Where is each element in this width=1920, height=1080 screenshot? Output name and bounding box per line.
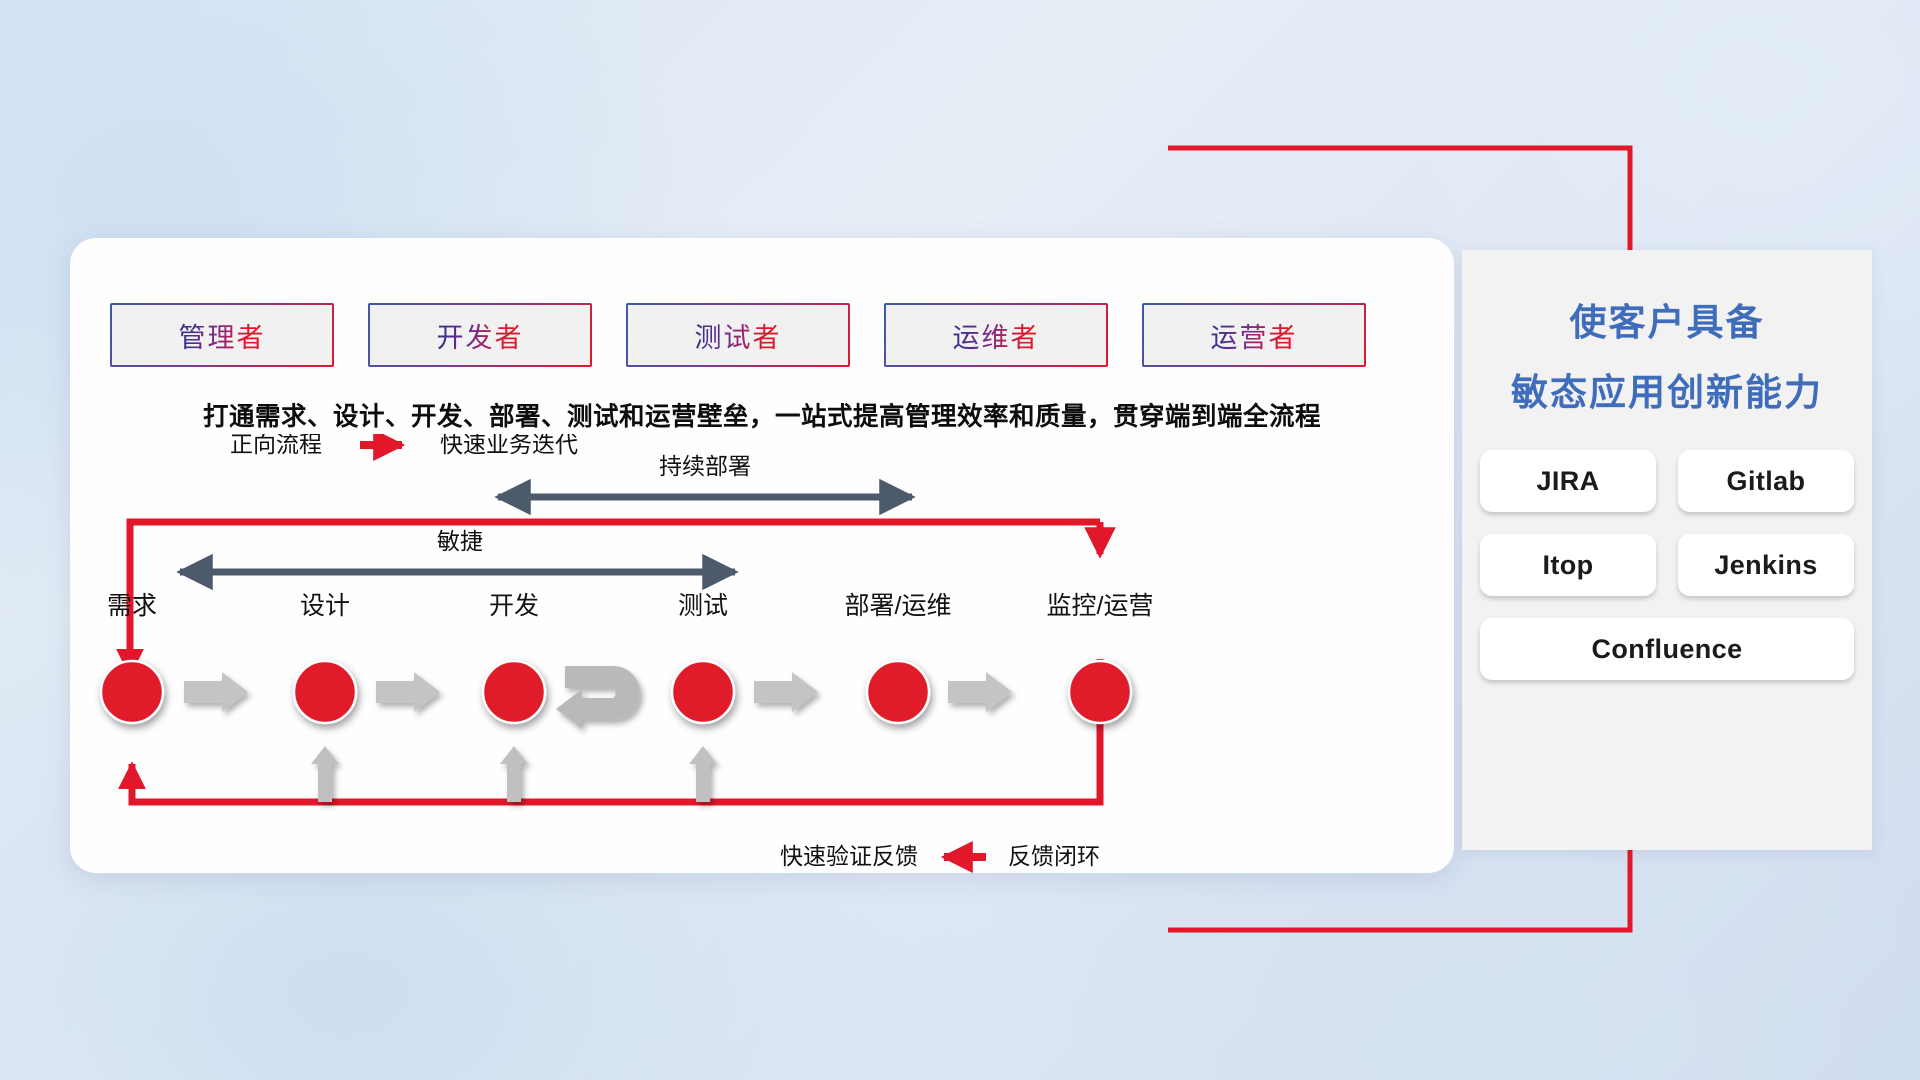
stage-circle-deploy-ops[interactable] bbox=[867, 661, 929, 723]
role-label: 管理者 bbox=[179, 316, 266, 355]
dev-test-loop-arrow-icon bbox=[556, 666, 640, 729]
tool-button-itop[interactable]: Itop bbox=[1480, 534, 1656, 596]
devops-flow-diagram: 正向流程 快速业务迭代 持续部署 敏捷 需求 设计 开发 测试 部署/运维 监控… bbox=[70, 434, 1454, 874]
stage-label-requirement: 需求 bbox=[107, 592, 157, 620]
stage-label-deploy-ops: 部署/运维 bbox=[845, 592, 952, 620]
stage-circle-monitor-operations[interactable] bbox=[1069, 661, 1131, 723]
step-arrow-deploy-to-monitor-icon bbox=[948, 672, 1012, 712]
roles-row: 管理者 开发者 测试者 运维者 运营者 bbox=[110, 303, 1366, 367]
role-box-manager[interactable]: 管理者 bbox=[110, 303, 334, 367]
main-diagram-card: 管理者 开发者 测试者 运维者 运营者 打通需求、设计、开发、部署、测试和运营壁… bbox=[70, 238, 1454, 873]
tool-button-confluence[interactable]: Confluence bbox=[1480, 618, 1854, 680]
feeder-arrow-testing-icon bbox=[689, 746, 717, 802]
role-label: 测试者 bbox=[695, 316, 782, 355]
legend-forward-flow-label: 正向流程 bbox=[230, 434, 322, 457]
stage-label-development: 开发 bbox=[489, 592, 539, 620]
role-label: 运营者 bbox=[1211, 316, 1298, 355]
role-box-operations[interactable]: 运营者 bbox=[1142, 303, 1366, 367]
feeder-arrow-development-icon bbox=[500, 746, 528, 802]
step-arrow-requirement-to-design-icon bbox=[184, 672, 248, 712]
red-loop-top-left-path bbox=[130, 522, 1100, 674]
stage-label-testing: 测试 bbox=[678, 592, 728, 620]
panel-title-line2: 敏态应用创新能力 bbox=[1462, 362, 1872, 416]
step-arrow-design-to-development-icon bbox=[376, 672, 440, 712]
tool-button-jenkins[interactable]: Jenkins bbox=[1678, 534, 1854, 596]
stage-circle-development[interactable] bbox=[483, 661, 545, 723]
tools-grid: JIRA Gitlab Itop Jenkins Confluence bbox=[1480, 450, 1854, 680]
stage-circle-testing[interactable] bbox=[672, 661, 734, 723]
tool-button-gitlab[interactable]: Gitlab bbox=[1678, 450, 1854, 512]
role-box-tester[interactable]: 测试者 bbox=[626, 303, 850, 367]
legend-feedback-result-label: 快速验证反馈 bbox=[780, 843, 918, 869]
legend-forward-result-label: 快速业务迭代 bbox=[440, 434, 578, 457]
panel-title: 使客户具备 敏态应用创新能力 bbox=[1462, 292, 1872, 416]
legend-feedback-loop-label: 反馈闭环 bbox=[1008, 843, 1100, 869]
role-box-developer[interactable]: 开发者 bbox=[368, 303, 592, 367]
rail-feeder-arrows-group bbox=[311, 746, 717, 802]
stage-label-design: 设计 bbox=[300, 592, 350, 620]
stage-circle-requirement[interactable] bbox=[101, 661, 163, 723]
tool-button-jira[interactable]: JIRA bbox=[1480, 450, 1656, 512]
stage-circle-design[interactable] bbox=[294, 661, 356, 723]
feeder-arrow-design-icon bbox=[311, 746, 339, 802]
value-proposition-panel: 使客户具备 敏态应用创新能力 JIRA Gitlab Itop Jenkins … bbox=[1462, 250, 1872, 850]
subtitle-text: 打通需求、设计、开发、部署、测试和运营壁垒，一站式提高管理效率和质量，贯穿端到端… bbox=[70, 396, 1454, 433]
role-label: 开发者 bbox=[437, 316, 524, 355]
step-arrow-testing-to-deploy-icon bbox=[754, 672, 818, 712]
span-label-agile: 敏捷 bbox=[437, 528, 483, 554]
role-box-ops[interactable]: 运维者 bbox=[884, 303, 1108, 367]
stage-label-monitor-operations: 监控/运营 bbox=[1047, 592, 1154, 620]
panel-title-line1: 使客户具备 bbox=[1462, 292, 1872, 346]
span-label-continuous-deploy: 持续部署 bbox=[659, 453, 751, 479]
role-label: 运维者 bbox=[953, 316, 1040, 355]
